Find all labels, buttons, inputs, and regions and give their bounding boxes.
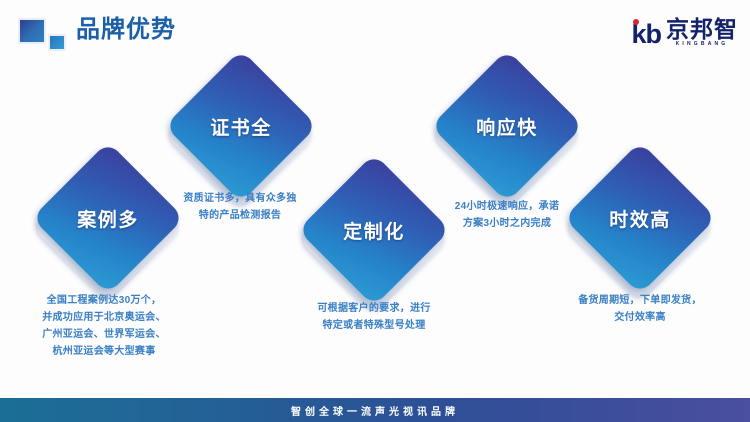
title-marker-group (18, 18, 70, 54)
advantage-desc-5: 备货周期短，下单即发货， 交付效率高 (550, 292, 730, 326)
advantage-diamond-3[interactable]: 定制化 (320, 176, 428, 284)
diamond-face (431, 50, 584, 203)
advantage-diamond-1[interactable]: 案例多 (54, 164, 162, 272)
diamond-face (165, 50, 318, 203)
page-title: 品牌优势 (76, 14, 176, 46)
square-large-icon (18, 18, 46, 44)
advantage-desc-1: 全国工程案例达30万个， 并成功应用于北京奥运会、 广州亚运会、世界军运会、 杭… (14, 292, 194, 360)
slide-footer: 智创全球一流声光视讯品牌 (0, 398, 750, 422)
advantage-diamond-2[interactable]: 证书全 (187, 72, 295, 180)
logo-chinese-name: 京邦智 (666, 17, 738, 41)
footer-slogan: 智创全球一流声光视讯品牌 (291, 403, 459, 418)
advantage-diamond-5[interactable]: 时效高 (586, 164, 694, 272)
logo-mark-text: kb (631, 21, 661, 48)
diamond-face (564, 142, 717, 295)
logo-chinese-block: 京邦智 KINGBANG (666, 17, 738, 48)
slide-root: 品牌优势 kb 京邦智 KINGBANG 案例多 全国工程案例达30万个， 并成… (0, 0, 750, 422)
square-small-icon (48, 34, 66, 51)
slide-header: 品牌优势 kb 京邦智 KINGBANG (0, 0, 750, 60)
advantage-diamond-4[interactable]: 响应快 (453, 72, 561, 180)
brand-logo: kb 京邦智 KINGBANG (631, 16, 738, 48)
logo-pinyin: KINGBANG (676, 41, 729, 48)
advantage-desc-3: 可根据客户的要求，进行 特定或者特殊型号处理 (284, 300, 464, 334)
advantage-desc-2: 资质证书多，具有众多独 特的产品检测报告 (150, 190, 330, 224)
